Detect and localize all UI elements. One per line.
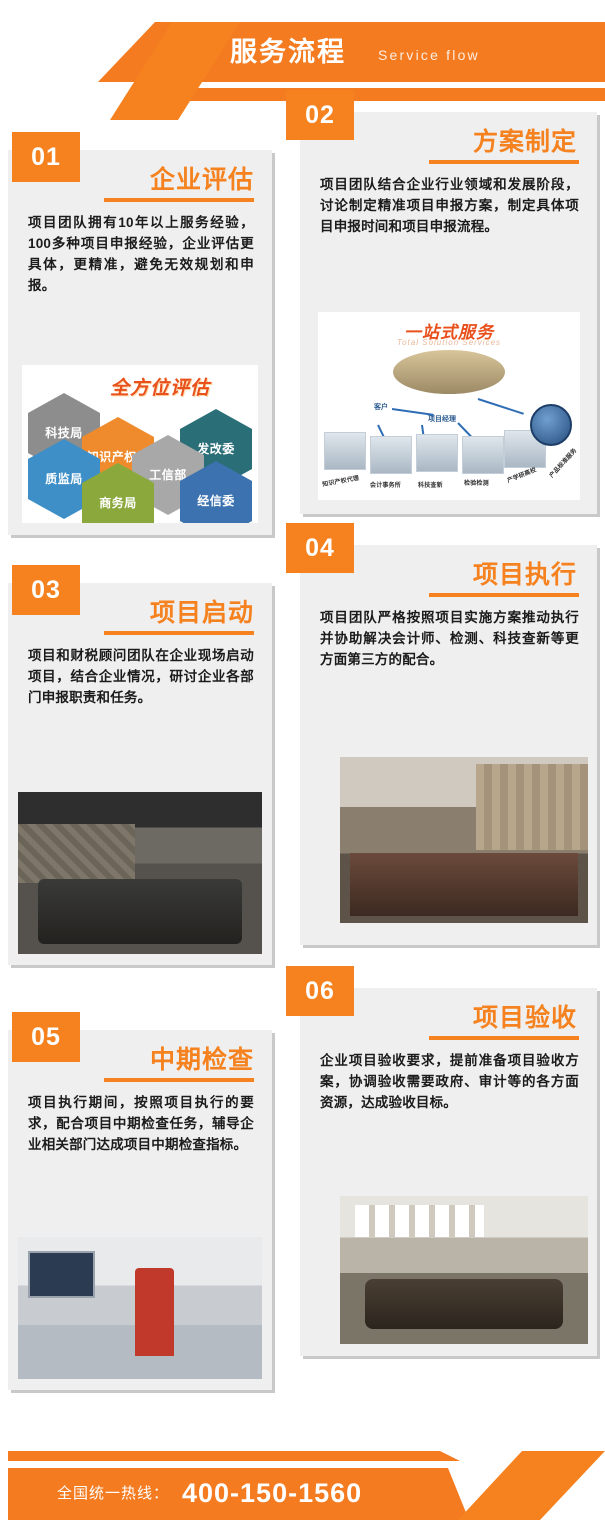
page-subtitle: Service flow bbox=[378, 44, 480, 66]
card-06-number: 06 bbox=[286, 966, 354, 1016]
card-05-title-rule bbox=[104, 1078, 254, 1082]
hex-node-label: 科技局 bbox=[45, 426, 83, 440]
card-04-body: 项目团队严格按照项目实施方案推动执行并协助解决会计师、检测、科技查新等更方面第三… bbox=[320, 607, 579, 670]
hex-node-label: 发改委 bbox=[197, 442, 235, 456]
card-06-title-rule bbox=[429, 1036, 579, 1040]
photo-office-working bbox=[340, 757, 588, 923]
one-stop-node-label: 检验检测 bbox=[464, 478, 489, 487]
card-03-number: 03 bbox=[12, 565, 80, 615]
hex-diagram-title: 全方位评估 bbox=[110, 373, 210, 400]
card-04-title: 项目执行 bbox=[473, 555, 577, 591]
one-stop-subtitle: Total Solution Services bbox=[318, 338, 580, 347]
card-05[interactable]: 05 中期检查 项目执行期间，按照项目执行的要求，配合项目中期检查任务，辅导企业… bbox=[8, 1030, 272, 1390]
card-05-title: 中期检查 bbox=[150, 1040, 254, 1076]
card-03-body: 项目和财税顾问团队在企业现场启动项目，结合企业情况，研讨企业各部门申报职责和任务… bbox=[28, 645, 254, 708]
hex-diagram: 全方位评估 科技局 知识产权局 发改委 质监局 工信部 商务局 经信委 bbox=[22, 365, 258, 523]
card-04-title-rule bbox=[429, 593, 579, 597]
hex-node-label: 质监局 bbox=[45, 472, 83, 486]
one-stop-node-label: 科技查新 bbox=[418, 480, 443, 489]
one-stop-arrow bbox=[392, 408, 434, 416]
hotline-label: 全国统一热线： bbox=[57, 1483, 169, 1505]
page-footer: 全国统一热线： 400-150-1560 bbox=[0, 1413, 605, 1538]
card-02-title-rule bbox=[429, 160, 579, 164]
card-03-title: 项目启动 bbox=[150, 593, 254, 629]
hotline-number[interactable]: 400-150-1560 bbox=[182, 1475, 362, 1511]
one-stop-hub-photo bbox=[393, 350, 505, 394]
card-02-title: 方案制定 bbox=[473, 122, 577, 158]
card-06[interactable]: 06 项目验收 企业项目验收要求，提前准备项目验收方案，协调验收需要政府、审计等… bbox=[300, 988, 597, 1356]
hex-node-label: 商务局 bbox=[99, 496, 137, 510]
card-06-title: 项目验收 bbox=[473, 998, 577, 1034]
one-stop-arrow bbox=[478, 398, 524, 415]
one-stop-node-label: 会计事务所 bbox=[370, 480, 401, 489]
card-01[interactable]: 01 企业评估 项目团队拥有10年以上服务经验，100多种项目申报经验，企业评估… bbox=[8, 150, 272, 535]
one-stop-node-label: 产品标准服务 bbox=[547, 446, 579, 480]
card-04-number: 04 bbox=[286, 523, 354, 573]
service-flow-infographic: 服务流程 Service flow 01 企业评估 项目团队拥有10年以上服务经… bbox=[0, 0, 605, 1538]
card-06-body: 企业项目验收要求，提前准备项目验收方案，协调验收需要政府、审计等的各方面资源，达… bbox=[320, 1050, 579, 1113]
card-05-body: 项目执行期间，按照项目执行的要求，配合项目中期检查任务，辅导企业相关部门达成项目… bbox=[28, 1092, 254, 1155]
card-01-title-rule bbox=[104, 198, 254, 202]
one-stop-seal-icon bbox=[530, 404, 572, 446]
card-02-number: 02 bbox=[286, 90, 354, 140]
one-stop-node-search bbox=[416, 434, 458, 472]
card-03-photo bbox=[18, 792, 262, 954]
card-01-body: 项目团队拥有10年以上服务经验，100多种项目申报经验，企业评估更具体，更精准，… bbox=[28, 212, 254, 296]
card-04-photo bbox=[340, 757, 588, 923]
card-01-title: 企业评估 bbox=[150, 160, 254, 196]
card-06-photo bbox=[340, 1196, 588, 1344]
card-03-title-rule bbox=[104, 631, 254, 635]
card-01-number: 01 bbox=[12, 132, 80, 182]
one-stop-node-testing bbox=[462, 436, 504, 474]
one-stop-node-label: 知识产权代理 bbox=[322, 473, 360, 488]
page-title: 服务流程 bbox=[230, 33, 346, 71]
photo-conference-room bbox=[340, 1196, 588, 1344]
card-02[interactable]: 02 方案制定 项目团队结合企业行业领域和发展阶段，讨论制定精准项目申报方案，制… bbox=[300, 112, 597, 514]
hex-node-label: 经信委 bbox=[197, 494, 235, 508]
one-stop-node-ip bbox=[324, 432, 366, 470]
photo-meeting-room bbox=[18, 792, 262, 954]
card-04[interactable]: 04 项目执行 项目团队严格按照项目实施方案推动执行并协助解决会计师、检测、科技… bbox=[300, 545, 597, 945]
one-stop-label-customer: 客户 bbox=[374, 402, 388, 412]
card-05-number: 05 bbox=[12, 1012, 80, 1062]
card-02-body: 项目团队结合企业行业领域和发展阶段，讨论制定精准项目申报方案，制定具体项目申报时… bbox=[320, 174, 579, 237]
hex-node-label: 工信部 bbox=[149, 468, 187, 482]
card-05-photo bbox=[18, 1237, 262, 1379]
one-stop-diagram: 一站式服务 Total Solution Services 客户 项目经理 知识… bbox=[318, 312, 580, 500]
one-stop-node-accounting bbox=[370, 436, 412, 474]
card-03[interactable]: 03 项目启动 项目和财税顾问团队在企业现场启动项目，结合企业情况，研讨企业各部… bbox=[8, 583, 272, 965]
photo-showroom-visit bbox=[18, 1237, 262, 1379]
